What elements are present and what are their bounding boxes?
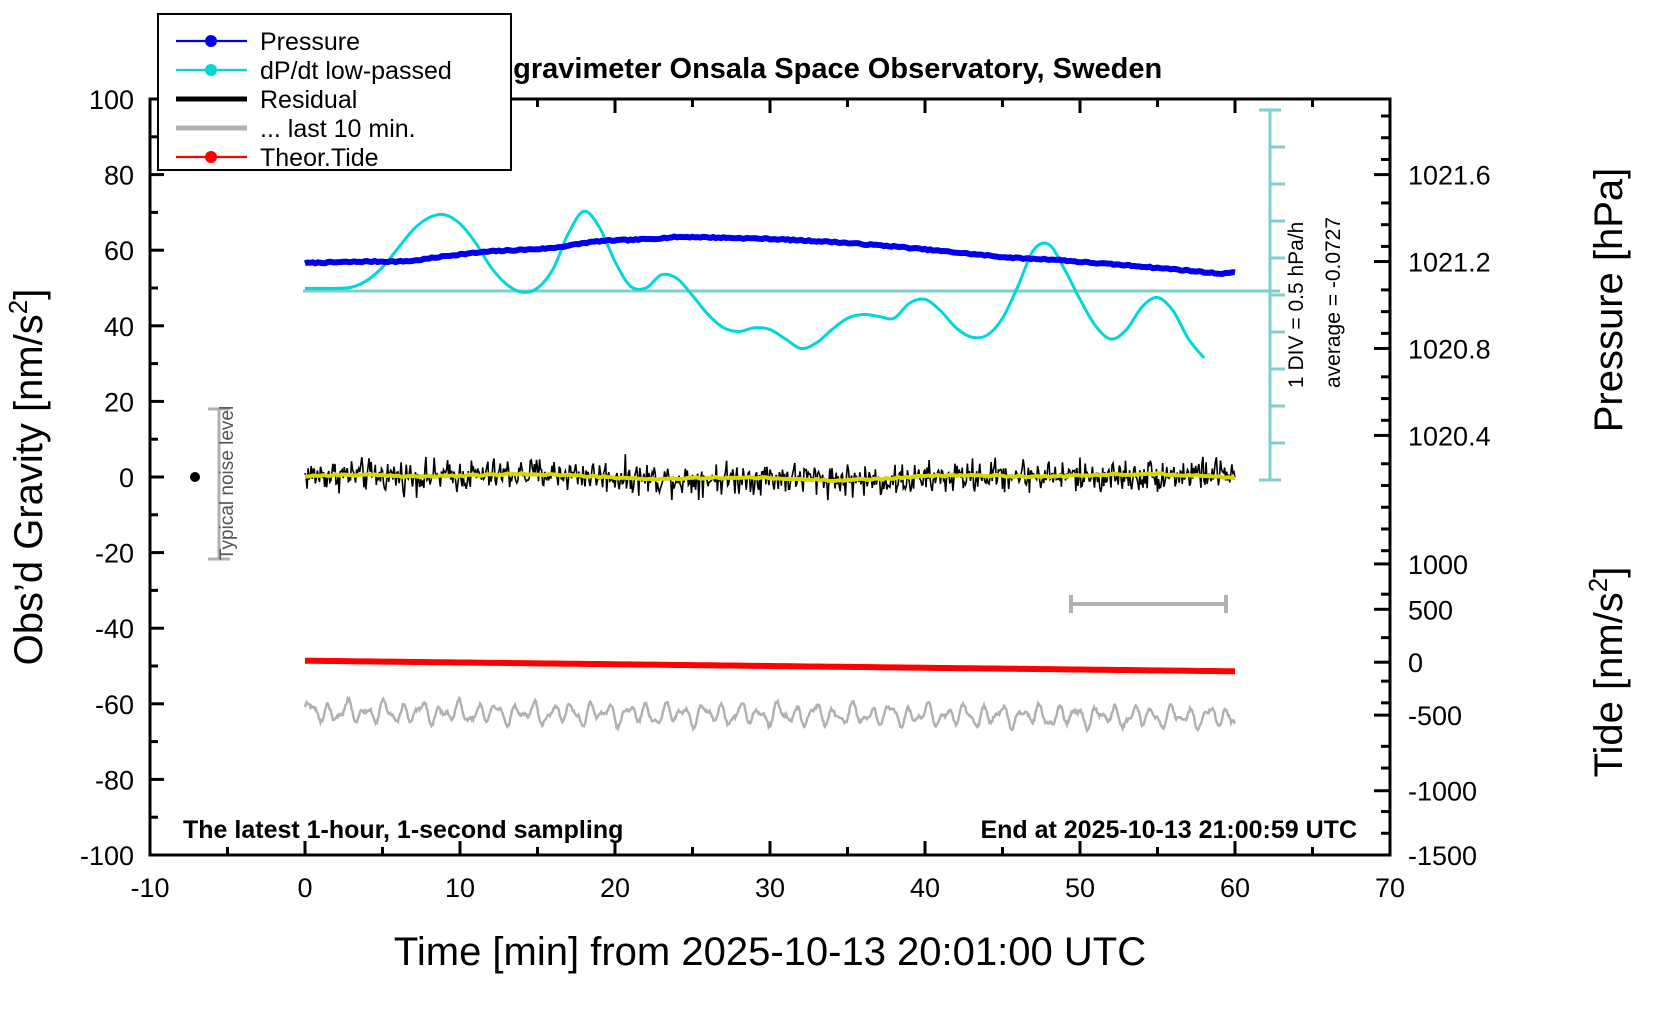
y-tick-label: 60: [104, 236, 134, 266]
y-tick-label: 40: [104, 312, 134, 342]
tide-tick-label: 0: [1408, 648, 1423, 678]
legend-label: dP/dt low-passed: [260, 57, 452, 85]
y-tick-label: -40: [95, 614, 134, 644]
pressure-tick-label: 1021.6: [1408, 161, 1491, 191]
y-tick-label: 100: [89, 85, 134, 115]
footer-right-text: End at 2025-10-13 21:00:59 UTC: [980, 816, 1357, 844]
y-tick-label: -80: [95, 765, 134, 795]
x-tick-label: 70: [1375, 873, 1405, 903]
y-tick-label: -20: [95, 539, 134, 569]
tide-tick-label: -1000: [1408, 777, 1477, 807]
x-tick-label: 50: [1065, 873, 1095, 903]
dpdt-average-label: average = -0.0727: [1322, 217, 1345, 388]
tide-tick-label: 500: [1408, 595, 1453, 625]
x-tick-label: 40: [910, 873, 940, 903]
pressure-tick-label: 1021.2: [1408, 248, 1491, 278]
x-tick-label: 0: [297, 873, 312, 903]
x-tick-label: -10: [130, 873, 169, 903]
right-pressure-axis-title: Pressure [hPa]: [1587, 168, 1631, 433]
tide-tick-label: -1500: [1408, 841, 1477, 871]
y-tick-label: 0: [119, 463, 134, 493]
footer-left-text: The latest 1-hour, 1-second sampling: [183, 816, 623, 844]
y-tick-label: -60: [95, 690, 134, 720]
tide-tick-label: -500: [1408, 701, 1462, 731]
y-tick-label: 80: [104, 161, 134, 191]
x-tick-label: 20: [600, 873, 630, 903]
gravimeter-chart: 100806040200-20-40-60-80-100 -1001020304…: [0, 0, 1660, 1020]
legend-label: Theor.Tide: [260, 144, 379, 172]
pressure-tick-label: 1020.4: [1408, 421, 1491, 451]
chart-page: 100806040200-20-40-60-80-100 -1001020304…: [0, 0, 1660, 1020]
dpdt-div-label: 1 DIV = 0.5 hPa/h: [1285, 222, 1308, 388]
legend-marker: [205, 35, 217, 47]
tide-tick-label: 1000: [1408, 550, 1468, 580]
right-tide-axis-title: Tide [nm/s2]: [1583, 567, 1631, 778]
legend-label: Residual: [260, 86, 357, 114]
legend-label: Pressure: [260, 28, 360, 56]
y-tick-label: 20: [104, 387, 134, 417]
legend-marker: [205, 64, 217, 76]
x-tick-label: 60: [1220, 873, 1250, 903]
legend: PressuredP/dt low-passedResidual... last…: [158, 14, 511, 172]
x-tick-label: 10: [445, 873, 475, 903]
pressure-tick-label: 1020.8: [1408, 334, 1491, 364]
y-tick-label: -100: [80, 841, 134, 871]
x-tick-label: 30: [755, 873, 785, 903]
typical-noise-level-label: Typical noise level: [217, 406, 238, 560]
y-axis-title: Obs’d Gravity [nm/s2]: [3, 289, 51, 666]
legend-label: ... last 10 min.: [260, 115, 416, 143]
x-axis-title: Time [min] from 2025-10-13 20:01:00 UTC: [394, 930, 1146, 974]
legend-marker: [205, 151, 217, 163]
